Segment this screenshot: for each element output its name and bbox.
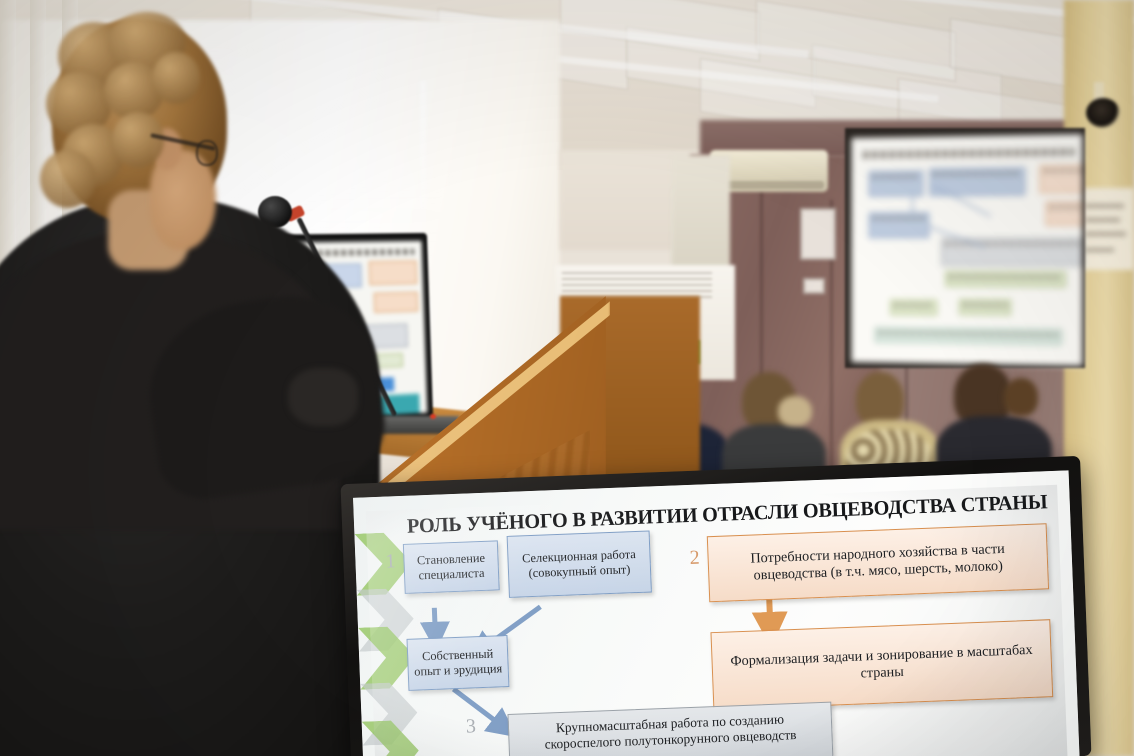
audience-hair [1004,378,1038,416]
security-camera-icon [1086,98,1120,128]
slide-box-blue-1: Становление специалиста [403,540,500,594]
wall-poster [1078,188,1134,270]
monitor-display-area[interactable]: РОЛЬ УЧЁНОГО В РАЗВИТИИ ОТРАСЛИ ОВЦЕВОДС… [353,470,1079,756]
slide-marker-1: 1 [385,550,396,573]
slide-box-orange-2: Формализация задачи и зонирование в масш… [710,619,1053,710]
speaker-hand [288,368,358,426]
power-led-icon [430,414,436,419]
wall-frame-small [803,278,825,294]
air-conditioner-vent [714,181,824,189]
audience-hair-bun [778,396,812,426]
slide-marker-3: 3 [465,715,476,738]
slide-box-blue-2: Селекционная работа (совокупный опыт) [507,530,652,597]
eyeglasses-lens [196,140,218,166]
presentation-slide: РОЛЬ УЧЁНОГО В РАЗВИТИИ ОТРАСЛИ ОВЦЕВОДС… [353,470,1079,756]
slide-marker-2: 2 [689,547,700,570]
slide-box-orange-1: Потребности народного хозяйства в части … [707,523,1049,602]
wall-frame-picture [800,208,836,260]
notice-board-title [562,272,712,298]
projection-screen [851,134,1082,366]
foreground-monitor[interactable]: РОЛЬ УЧЁНОГО В РАЗВИТИИ ОТРАСЛИ ОВЦЕВОДС… [341,456,1092,756]
slide-box-blue-3: Собственный опыт и эрудиция [406,635,509,691]
lecture-hall-photo: РОЛЬ УЧЁНОГО В РАЗВИТИИ ОТРАСЛИ ОВЦЕВОДС… [0,0,1134,756]
slide-box-gray-1: Крупномасштабная работа по созданию скор… [507,702,834,756]
